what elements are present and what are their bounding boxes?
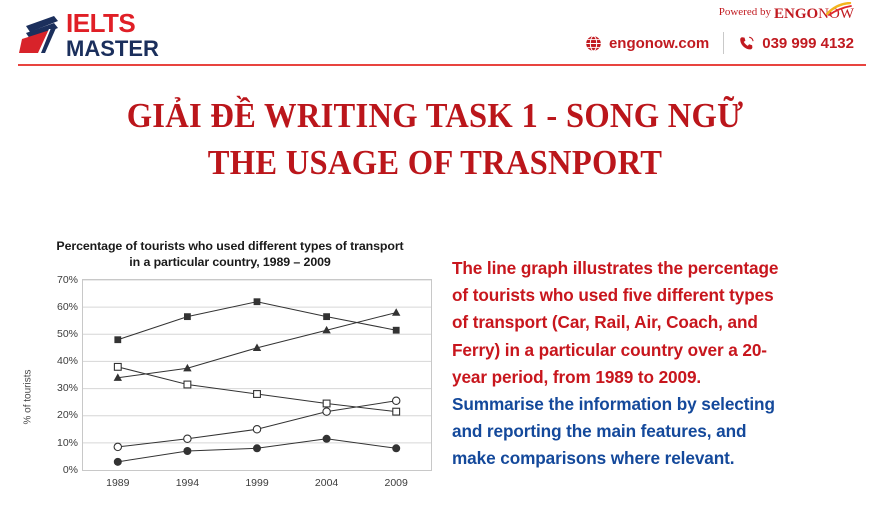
essay-line-task-instruction: Summarise the information by selecting	[452, 391, 864, 418]
contact-divider	[723, 32, 724, 54]
x-axis-tick-label: 1999	[245, 477, 268, 489]
data-point-marker	[393, 327, 400, 334]
chart-title-line-2: in a particular country, 1989 – 2009	[22, 254, 438, 270]
data-point-marker	[323, 400, 330, 407]
engonow-brand-bold: ENGO	[774, 6, 818, 23]
powered-by-label: Powered by	[719, 6, 771, 18]
chart-plot-area: % of tourists 0%10%20%30%40%50%60%70% 19…	[14, 279, 446, 515]
essay-line-task-instruction: and reporting the main features, and	[452, 418, 864, 445]
data-point-marker	[184, 435, 191, 442]
data-point-marker	[114, 443, 121, 450]
data-point-marker	[323, 435, 331, 443]
contact-bar: engonow.com 039 999 4132	[585, 30, 854, 56]
swoosh-icon	[826, 2, 852, 21]
data-point-marker	[393, 397, 400, 404]
series-line	[118, 367, 396, 412]
line-chart-svg	[83, 280, 431, 470]
essay-line-task-description: of transport (Car, Rail, Air, Coach, and	[452, 309, 864, 336]
essay-line-task-description: Ferry) in a particular country over a 20…	[452, 337, 864, 364]
x-axis-tick-label: 2009	[385, 477, 408, 489]
y-axis-tick-label: 60%	[36, 301, 78, 313]
chart-title-line-1: Percentage of tourists who used differen…	[22, 238, 438, 254]
phone-icon	[738, 35, 755, 52]
x-axis-tick-label: 2004	[315, 477, 338, 489]
website-link[interactable]: engonow.com	[585, 35, 709, 52]
ielts-master-logo[interactable]: IELTS MASTER	[18, 6, 208, 64]
page-title: GIẢI ĐỀ WRITING TASK 1 - SONG NGỮ THE US…	[0, 92, 870, 187]
phone-label: 039 999 4132	[762, 35, 854, 52]
series-line	[118, 401, 396, 447]
essay-line-task-instruction: make comparisons where relevant.	[452, 445, 864, 472]
y-axis-tick-label: 70%	[36, 274, 78, 286]
data-point-marker	[253, 425, 260, 432]
data-point-marker	[184, 313, 191, 320]
essay-line-task-description: year period, from 1989 to 2009.	[452, 364, 864, 391]
website-label: engonow.com	[609, 35, 709, 52]
essay-paragraph: The line graph illustrates the percentag…	[452, 255, 864, 472]
data-point-marker	[253, 444, 261, 452]
y-axis-label: % of tourists	[23, 369, 34, 424]
logo-line-ielts: IELTS	[66, 10, 159, 36]
data-point-marker	[114, 458, 122, 466]
y-axis-tick-label: 0%	[36, 464, 78, 476]
chart-panel: Percentage of tourists who used differen…	[14, 238, 446, 516]
x-axis-ticks: 19891994199920042009	[82, 477, 432, 497]
y-axis-tick-label: 30%	[36, 382, 78, 394]
y-axis-ticks: 0%10%20%30%40%50%60%70%	[34, 279, 78, 471]
page-header: IELTS MASTER Powered by ENGO NOW	[0, 0, 870, 66]
y-axis-tick-label: 40%	[36, 355, 78, 367]
y-axis-tick-label: 20%	[36, 409, 78, 421]
data-point-marker	[323, 408, 330, 415]
slide-root: IELTS MASTER Powered by ENGO NOW	[0, 0, 870, 520]
data-point-marker	[254, 390, 261, 397]
chart-title: Percentage of tourists who used differen…	[14, 238, 446, 271]
logo-wordmark: IELTS MASTER	[66, 10, 159, 60]
data-point-marker	[254, 298, 261, 305]
phone-link[interactable]: 039 999 4132	[738, 35, 854, 52]
data-point-marker	[114, 336, 121, 343]
powered-by-engonow: Powered by ENGO NOW	[719, 6, 854, 24]
y-axis-tick-label: 10%	[36, 437, 78, 449]
data-point-marker	[323, 313, 330, 320]
header-divider-rule	[18, 64, 866, 66]
stacked-books-icon	[18, 12, 64, 58]
x-axis-tick-label: 1989	[106, 477, 129, 489]
essay-line-task-description: of tourists who used five different type…	[452, 282, 864, 309]
data-point-marker	[114, 363, 121, 370]
globe-icon	[585, 35, 602, 52]
data-point-marker	[392, 444, 400, 452]
data-point-marker	[393, 408, 400, 415]
line-chart-canvas	[82, 279, 432, 471]
logo-line-master: MASTER	[66, 38, 159, 60]
data-point-marker	[392, 308, 400, 316]
essay-line-task-description: The line graph illustrates the percentag…	[452, 255, 864, 282]
y-axis-tick-label: 50%	[36, 328, 78, 340]
page-title-line-1: GIẢI ĐỀ WRITING TASK 1 - SONG NGỮ	[30, 92, 839, 139]
x-axis-tick-label: 1994	[176, 477, 199, 489]
series-car	[114, 298, 399, 343]
data-point-marker	[183, 447, 191, 455]
series-ferry	[114, 435, 400, 466]
series-rail	[114, 308, 401, 381]
data-point-marker	[184, 381, 191, 388]
page-title-line-2: THE USAGE OF TRASNPORT	[30, 139, 839, 186]
